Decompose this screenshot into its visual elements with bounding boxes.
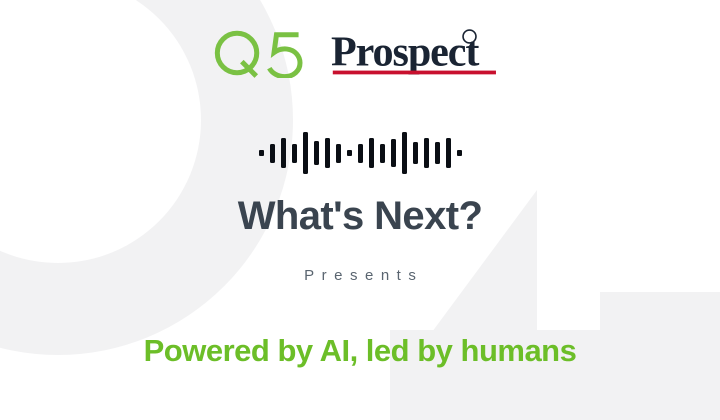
waveform-bar xyxy=(435,142,440,164)
waveform-bar xyxy=(292,144,297,163)
waveform-bar xyxy=(358,144,363,163)
waveform-bar xyxy=(424,138,429,168)
tagline: Powered by AI, led by humans xyxy=(0,331,720,371)
waveform-bar xyxy=(347,150,352,156)
waveform-bar xyxy=(402,132,407,174)
svg-text:Prospect: Prospect xyxy=(331,29,479,76)
waveform-bar xyxy=(457,150,462,156)
prospect-logo: Prospect xyxy=(331,28,507,80)
presentation-slide: Prospect What's Next? Presents Powered b… xyxy=(0,0,720,420)
waveform-bar xyxy=(391,139,396,167)
waveform-bar xyxy=(325,138,330,168)
waveform-bar xyxy=(314,141,319,165)
presents-label: Presents xyxy=(0,266,720,286)
audio-waveform-icon xyxy=(0,128,720,178)
q5-logo xyxy=(213,28,305,78)
headline-block: What's Next? xyxy=(0,193,720,239)
waveform-bar xyxy=(303,132,308,174)
logo-row: Prospect xyxy=(0,22,720,84)
page-title: What's Next? xyxy=(0,193,720,239)
prospect-red-underline xyxy=(333,71,496,75)
waveform-bar xyxy=(413,142,418,164)
waveform-bar xyxy=(270,144,275,163)
waveform-bar xyxy=(446,138,451,168)
waveform-bar xyxy=(259,150,264,156)
waveform-bar xyxy=(380,144,385,163)
waveform-bar xyxy=(369,138,374,168)
waveform-bar xyxy=(281,138,286,168)
waveform-bar xyxy=(336,144,341,163)
